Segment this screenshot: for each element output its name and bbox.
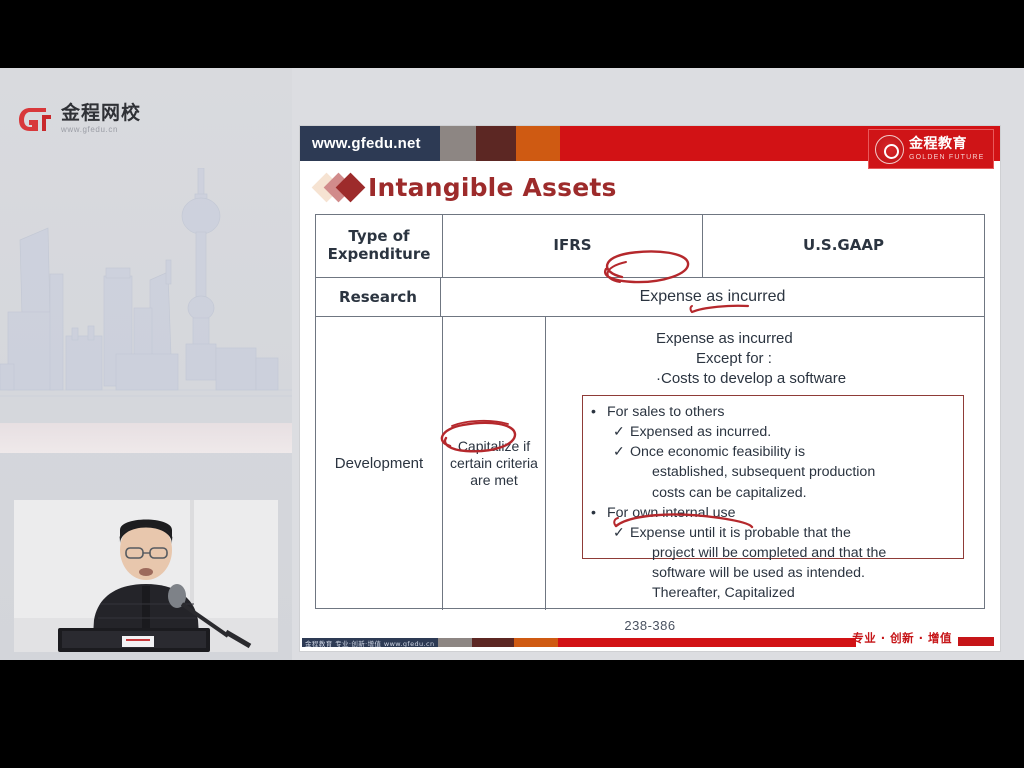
column-header-type-line1: Type of [328, 228, 431, 246]
column-header-ifrs: IFRS [443, 215, 703, 277]
check-icon: ✓ [613, 442, 630, 462]
bullet-text: For own internal use [607, 503, 736, 523]
golden-future-seal-icon [875, 135, 904, 164]
check-icon: ✓ [613, 422, 630, 442]
footer-slogan: 专业 · 创新 · 增值 [852, 630, 952, 646]
check-text-continuation: costs can be capitalized. [591, 483, 955, 503]
footer-bar-text: 金程教育 专业·创新·增值 www.gfedu.cn [305, 638, 435, 647]
check-text-continuation: project will be completed and that the [591, 543, 955, 563]
table-header-row: Type of Expenditure IFRS U.S.GAAP [316, 215, 984, 278]
waterfront-band [0, 423, 292, 453]
logo-name-cn: 金程教育 [909, 137, 985, 152]
research-value-cell: Expense as incurred [441, 278, 984, 316]
brand-url: www.gfedu.cn [61, 126, 141, 134]
bullet-item: • For own internal use [591, 503, 955, 523]
golden-future-logo: 金程教育 GOLDEN FUTURE [868, 129, 994, 169]
development-usgaap-cell: Expense as incurred Except for : ·Costs … [546, 317, 984, 610]
development-ifrs-cell: Capitalize if certain criteria are met [443, 317, 546, 610]
footer-band-maroon [472, 638, 514, 647]
check-text-continuation: established, subsequent production [591, 462, 955, 482]
bullet-text: For sales to others [607, 402, 725, 422]
check-item: ✓ Expense until it is probable that the [591, 523, 955, 543]
footer-red-block [958, 637, 994, 646]
usgaap-intro-line3: ·Costs to develop a software [656, 369, 846, 389]
page-title: Intangible Assets [368, 173, 617, 202]
slide-header-bar: www.gfedu.net 金程教育 GOLDEN FUTURE [300, 126, 1000, 161]
header-band-maroon [476, 126, 516, 161]
research-label: Research [339, 288, 417, 306]
usgaap-intro-text: Expense as incurred Except for : ·Costs … [656, 329, 846, 388]
letterbox-bottom [0, 660, 1024, 768]
shanghai-skyline-watermark-icon [0, 168, 292, 428]
gfedu-g-logo-icon [18, 106, 52, 133]
development-label-cell: Development [316, 317, 443, 610]
presenter-video-feed [14, 500, 278, 652]
comparison-table: Type of Expenditure IFRS U.S.GAAP Resear… [315, 214, 985, 609]
triple-diamond-decoration-icon [316, 172, 368, 202]
check-text: Expensed as incurred. [630, 422, 955, 442]
check-text: Once economic feasibility is [630, 442, 955, 462]
footer-band-red [558, 638, 856, 647]
footer-band-gray [438, 638, 472, 647]
development-label: Development [335, 455, 423, 472]
check-item: ✓ Expensed as incurred. [591, 422, 955, 442]
check-text: Expense until it is probable that the [630, 523, 955, 543]
footer-band-navy: 金程教育 专业·创新·增值 www.gfedu.cn [302, 638, 438, 647]
column-header-type: Type of Expenditure [316, 215, 443, 277]
footer-band-orange [514, 638, 558, 647]
column-header-usgaap: U.S.GAAP [703, 215, 984, 277]
left-branding-panel: 金程网校 www.gfedu.cn [0, 68, 292, 660]
bullet-icon: • [591, 402, 607, 422]
header-band-navy: www.gfedu.net [300, 126, 440, 161]
table-row-research: Research Expense as incurred [316, 278, 984, 317]
slide-website-url: www.gfedu.net [300, 135, 421, 152]
brand-text: 金程网校 www.gfedu.cn [61, 104, 141, 134]
research-value: Expense as incurred [441, 288, 984, 306]
header-band-orange [516, 126, 560, 161]
video-content-area: 金程网校 www.gfedu.cn [0, 68, 1024, 660]
development-ifrs-text: Capitalize if certain criteria are met [443, 438, 545, 489]
check-text-continuation: Thereafter, Capitalized [591, 583, 955, 603]
check-item: ✓ Once economic feasibility is [591, 442, 955, 462]
header-band-gray [440, 126, 476, 161]
brand-name-cn: 金程网校 [61, 104, 141, 123]
video-player-stage: 金程网校 www.gfedu.cn [0, 0, 1024, 768]
usgaap-intro-line2: Except for : [656, 349, 846, 369]
logo-name-en: GOLDEN FUTURE [909, 154, 985, 161]
usgaap-detail-box: • For sales to others ✓ Expensed as incu… [582, 395, 964, 559]
slide-title-row: Intangible Assets [300, 165, 1000, 209]
research-label-cell: Research [316, 278, 441, 316]
column-header-type-line2: Expenditure [328, 246, 431, 264]
letterbox-top [0, 0, 1024, 68]
bullet-item: • For sales to others [591, 402, 955, 422]
check-icon: ✓ [613, 523, 630, 543]
table-row-development: Development Capitalize if certain criter… [316, 317, 984, 610]
brand-lockup: 金程网校 www.gfedu.cn [18, 104, 141, 134]
presentation-slide: www.gfedu.net 金程教育 GOLDEN FUTURE [300, 126, 1000, 651]
usgaap-intro-line1: Expense as incurred [656, 329, 846, 349]
bullet-icon: • [591, 503, 607, 523]
check-text-continuation: software will be used as intended. [591, 563, 955, 583]
logo-text: 金程教育 GOLDEN FUTURE [909, 137, 985, 161]
